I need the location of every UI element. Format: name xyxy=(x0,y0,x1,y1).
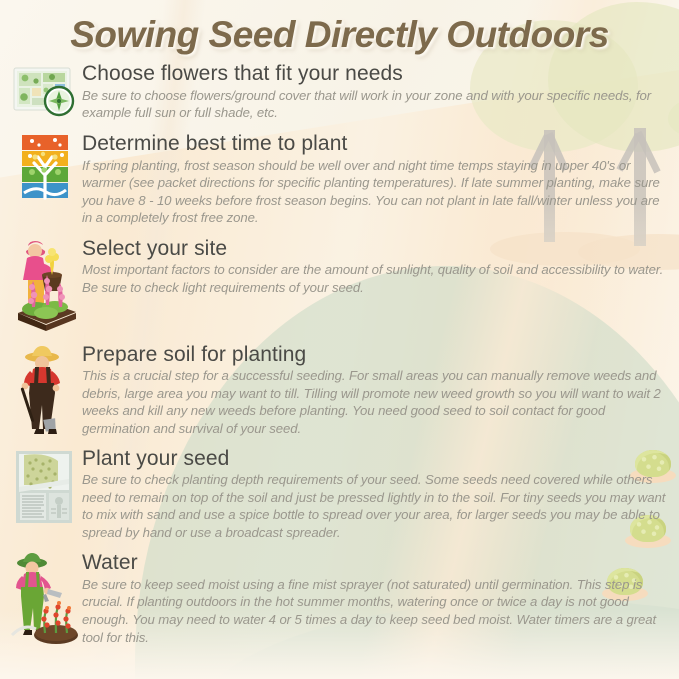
icon-slot xyxy=(8,62,82,122)
step-select-site: Select your site Most important factors … xyxy=(0,237,679,333)
steps-list: Choose flowers that fit your needs Be su… xyxy=(0,62,679,647)
icon-slot xyxy=(8,343,82,439)
step-body: Be sure to check planting depth requirem… xyxy=(82,471,671,541)
icon-slot xyxy=(8,132,82,206)
step-text: Plant your seed Be sure to check plantin… xyxy=(82,447,679,542)
infographic-poster: Sowing Seed Directly Outdoors xyxy=(0,0,679,679)
step-heading: Prepare soil for planting xyxy=(82,343,671,367)
gardener-watering-flowers-icon xyxy=(8,551,82,647)
seed-packet-icon xyxy=(8,447,82,543)
step-body: Be sure to keep seed moist using a fine … xyxy=(82,576,671,646)
icon-slot xyxy=(8,237,82,333)
icon-slot xyxy=(8,551,82,647)
step-heading: Water xyxy=(82,551,671,575)
step-text: Water Be sure to keep seed moist using a… xyxy=(82,551,679,646)
step-text: Choose flowers that fit your needs Be su… xyxy=(82,62,679,122)
step-heading: Determine best time to plant xyxy=(82,132,671,156)
step-text: Prepare soil for planting This is a cruc… xyxy=(82,343,679,438)
step-prepare-soil: Prepare soil for planting This is a cruc… xyxy=(0,343,679,439)
step-heading: Plant your seed xyxy=(82,447,671,471)
step-choose-flowers: Choose flowers that fit your needs Be su… xyxy=(0,62,679,122)
step-body: Be sure to choose flowers/ground cover t… xyxy=(82,87,671,122)
step-body: If spring planting, frost season should … xyxy=(82,157,671,227)
step-text: Select your site Most important factors … xyxy=(82,237,679,297)
gardener-with-flower-bed-icon xyxy=(8,237,82,333)
step-heading: Select your site xyxy=(82,237,671,261)
step-body: This is a crucial step for a successful … xyxy=(82,367,671,437)
step-text: Determine best time to plant If spring p… xyxy=(82,132,679,227)
page-title: Sowing Seed Directly Outdoors xyxy=(0,14,679,56)
step-determine-time: Determine best time to plant If spring p… xyxy=(0,132,679,227)
icon-slot xyxy=(8,447,82,521)
step-body: Most important factors to consider are t… xyxy=(82,261,671,296)
four-seasons-bands-icon xyxy=(8,132,82,228)
farmer-with-shovel-icon xyxy=(8,343,82,439)
step-plant-seed: Plant your seed Be sure to check plantin… xyxy=(0,447,679,542)
step-heading: Choose flowers that fit your needs xyxy=(82,62,671,86)
step-water: Water Be sure to keep seed moist using a… xyxy=(0,551,679,647)
